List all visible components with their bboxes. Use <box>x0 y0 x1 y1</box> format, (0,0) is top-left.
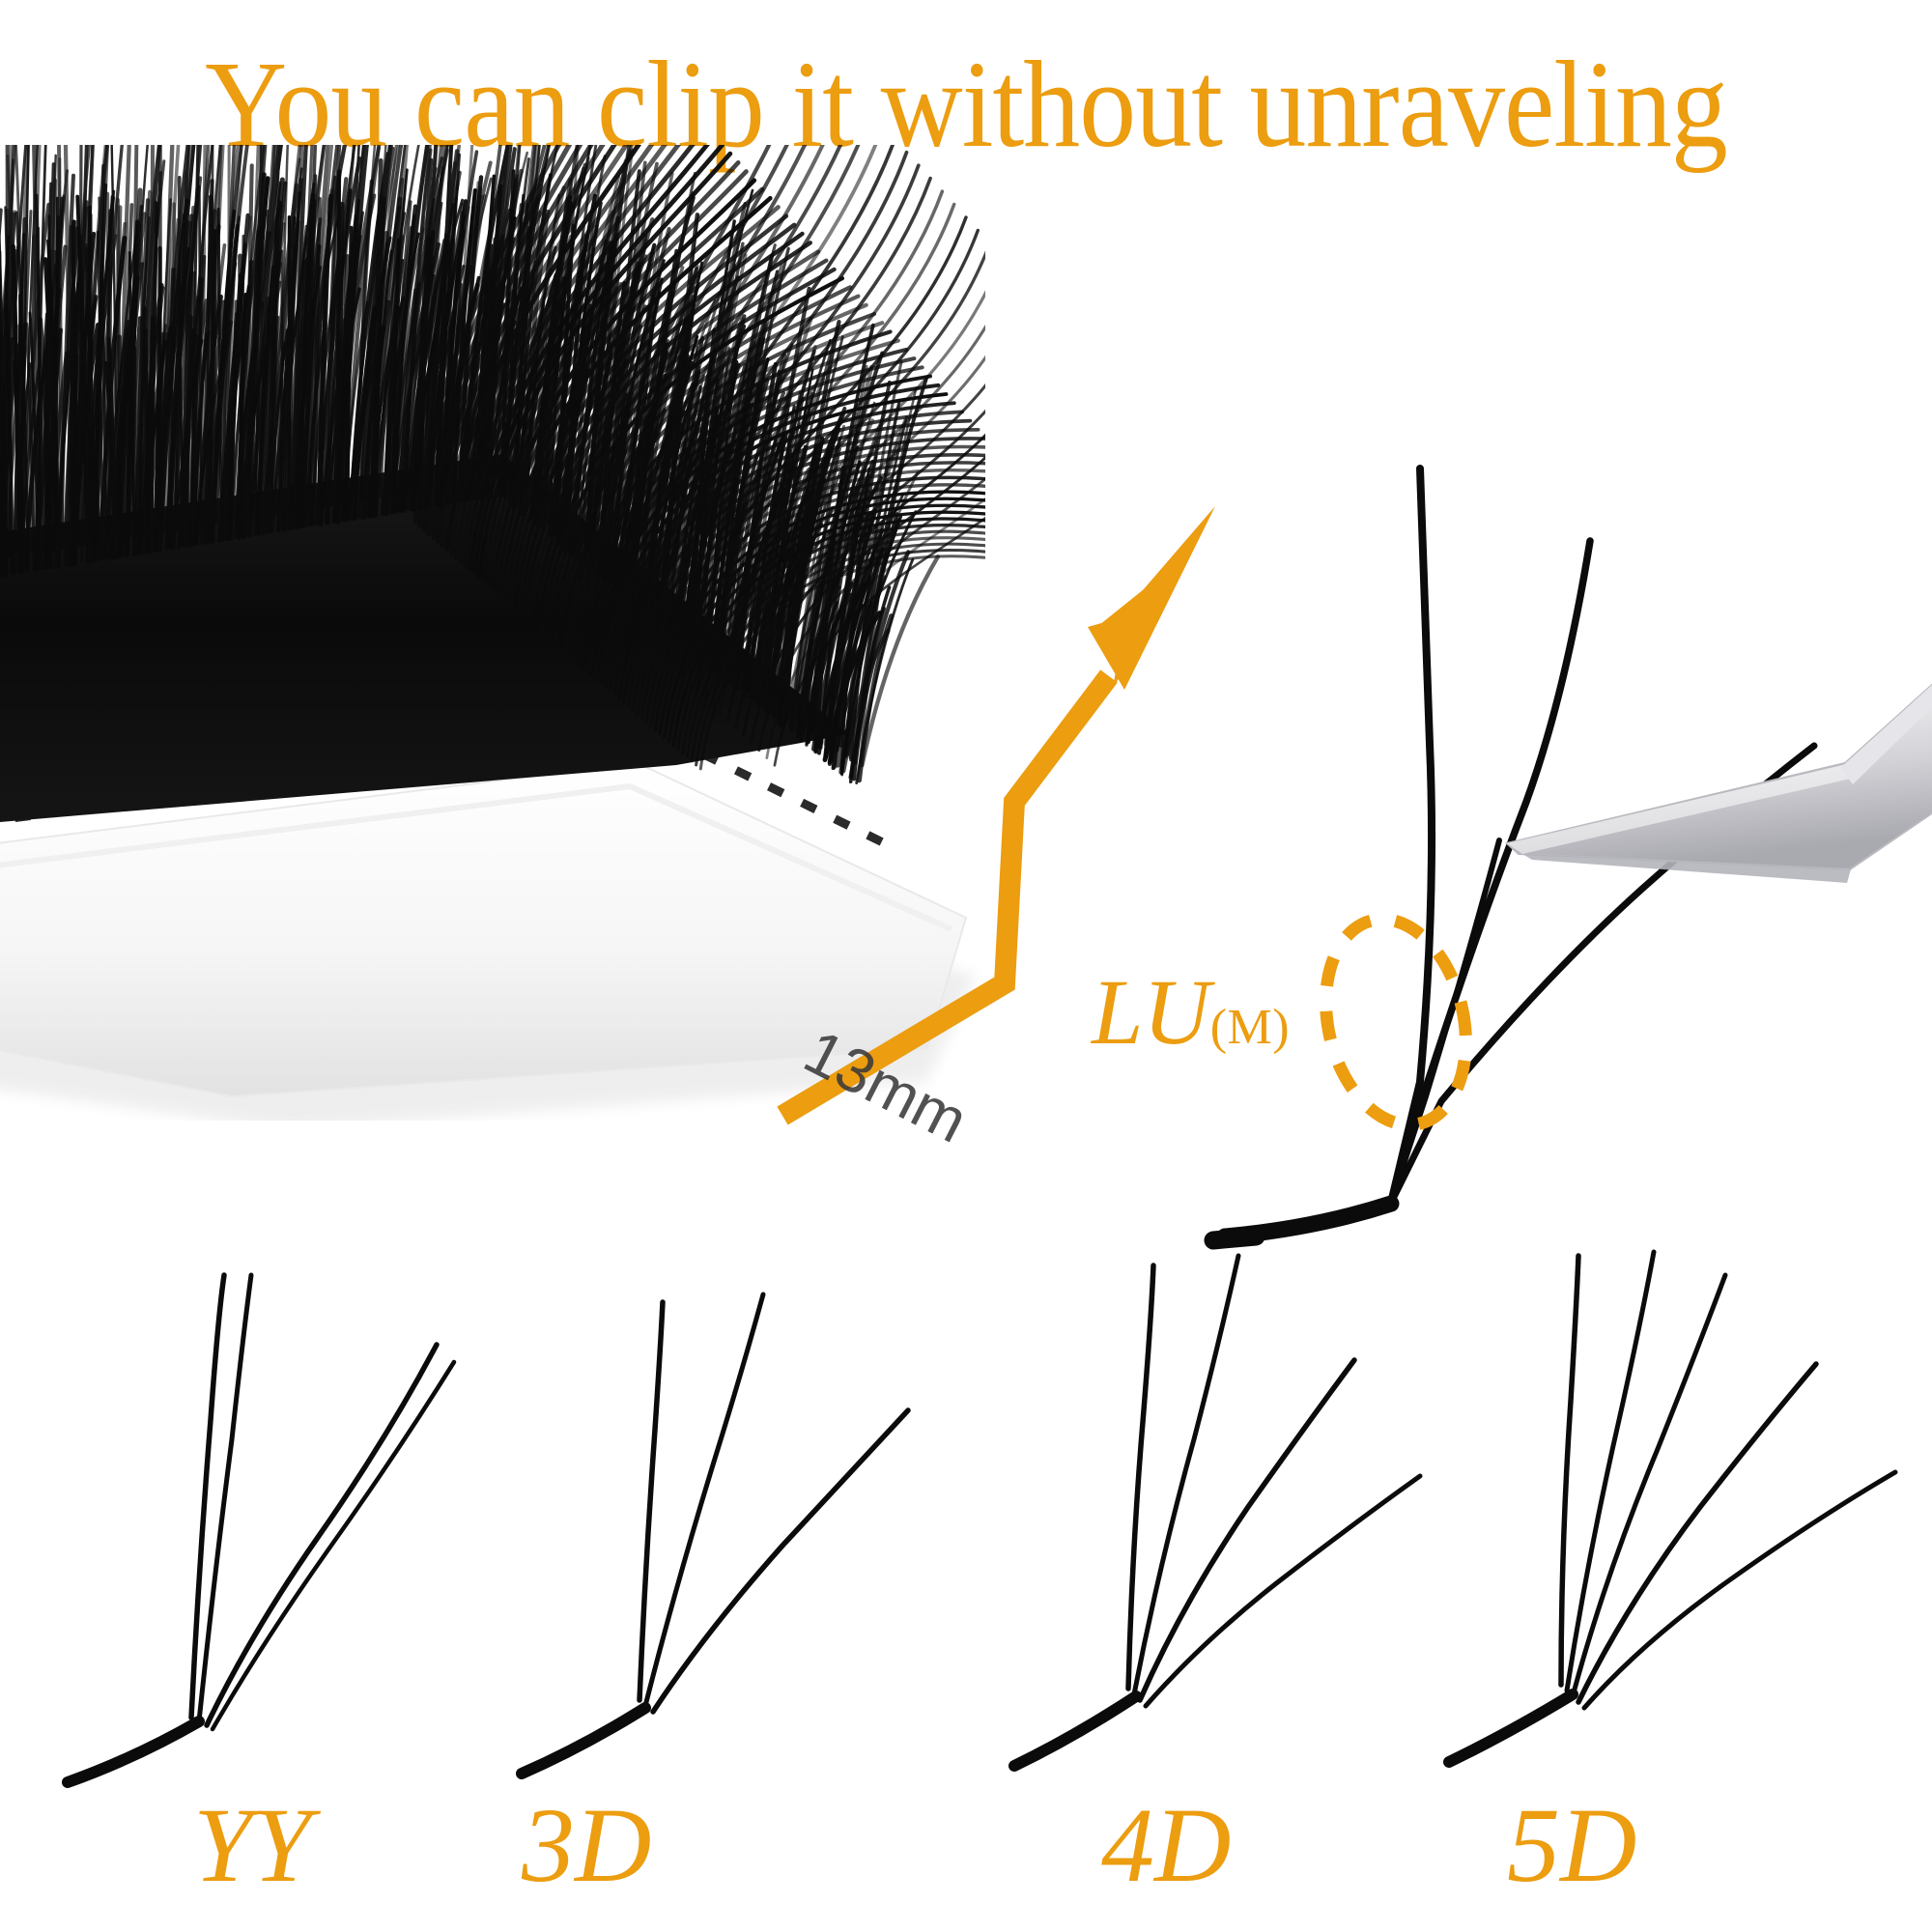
fan-diagram-4d <box>1014 1256 1420 1766</box>
fan-caption-5d: 5D <box>1507 1792 1636 1898</box>
fan-caption-4d: 4D <box>1101 1792 1231 1898</box>
curl-type-main: LU <box>1092 960 1210 1064</box>
fan-caption-yy: YY <box>193 1792 311 1898</box>
curl-type-sub: (M) <box>1210 1000 1290 1055</box>
dashed-base-highlight <box>1306 905 1485 1139</box>
tweezer-icon <box>1507 676 1932 883</box>
fan-diagram-5d <box>1449 1252 1895 1762</box>
upper-right-fan-and-tweezer <box>1213 469 1932 1240</box>
curl-type-label: LU(M) <box>1092 966 1290 1059</box>
fan-caption-3d: 3D <box>522 1792 651 1898</box>
lash-strip-photo <box>0 0 1932 1932</box>
fan-diagram-yy <box>68 1275 454 1782</box>
product-infographic-canvas: You can clip it without unraveling <box>0 0 1932 1932</box>
fan-diagram-row <box>68 1252 1895 1782</box>
fan-diagram-3d <box>522 1294 908 1774</box>
